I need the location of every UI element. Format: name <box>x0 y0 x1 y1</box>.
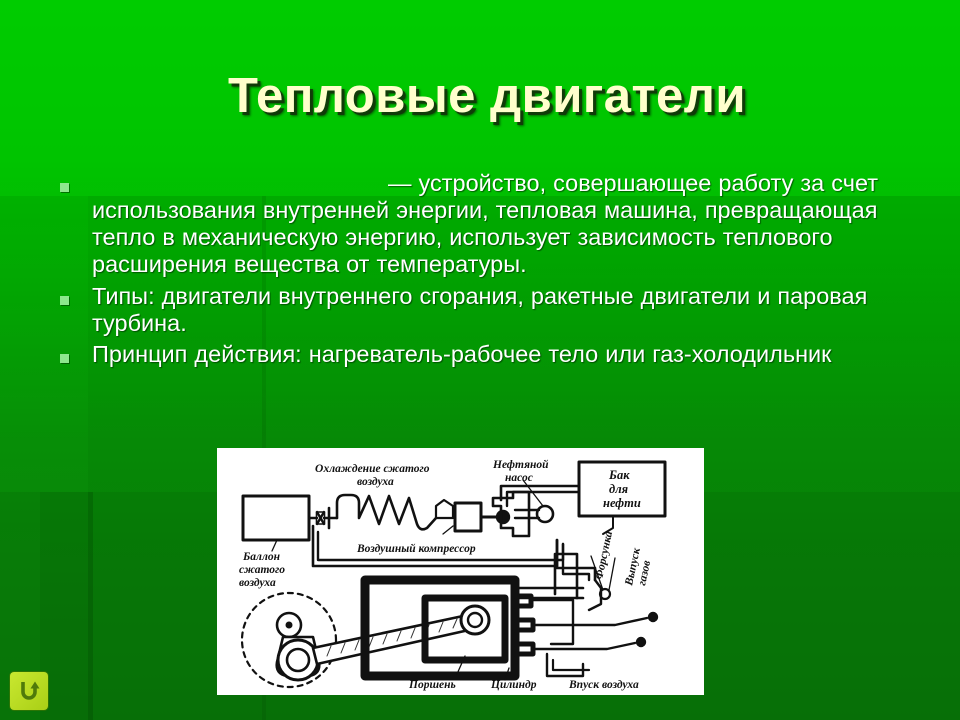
diagram-label-oil-pump: Нефтяной <box>492 458 549 471</box>
diagram-label-oil-tank-3: нефти <box>603 496 641 510</box>
list-item: — устройство, совершающее работу за счет… <box>52 170 932 278</box>
bullet-text: Принцип действия: нагреватель-рабочее те… <box>92 341 932 368</box>
bullet-square-icon <box>60 354 69 363</box>
diagram-label-air-intake: Впуск воздуха <box>568 679 639 691</box>
bullet-square-icon <box>60 296 69 305</box>
slide-body: — устройство, совершающее работу за счет… <box>52 170 932 373</box>
diagram-label-air-tank-2: сжатого <box>239 564 285 576</box>
slide-title: Тепловые двигатели <box>0 68 960 124</box>
list-item: Типы: двигатели внутреннего сгорания, ра… <box>52 283 932 337</box>
diagram-label-cooling-2: воздуха <box>357 476 394 488</box>
diagram-label-cylinder: Цилиндр <box>490 679 537 691</box>
bullet-text: — устройство, совершающее работу за счет… <box>92 170 932 278</box>
bullet-text: Типы: двигатели внутреннего сгорания, ра… <box>92 283 932 337</box>
bullet-square-icon <box>60 183 69 192</box>
diagram-image: Охлаждение сжатого воздуха Нефтяной насо… <box>217 448 704 695</box>
diagram-label-piston: Поршень <box>408 679 456 691</box>
diagram-label-oil-tank-1: Бак <box>608 468 630 482</box>
background-stripe-accent <box>88 492 93 720</box>
u-turn-arrow-icon <box>17 679 41 703</box>
diagram-label-air-tank-1: Баллон <box>242 551 281 563</box>
diagram-label-compressor: Воздушный компрессор <box>356 542 476 555</box>
presentation-slide: Тепловые двигатели — устройство, соверша… <box>0 0 960 720</box>
back-button[interactable] <box>10 672 48 710</box>
diagram-label-cooling: Охлаждение сжатого <box>315 463 430 475</box>
diagram-label-oil-tank-2: для <box>609 482 629 496</box>
diagram-label-oil-pump-2: насос <box>505 472 533 484</box>
diagram-label-air-tank-3: воздуха <box>239 577 276 589</box>
bullet-body: — устройство, совершающее работу за счет… <box>92 170 878 277</box>
list-item: Принцип действия: нагреватель-рабочее те… <box>52 341 932 368</box>
